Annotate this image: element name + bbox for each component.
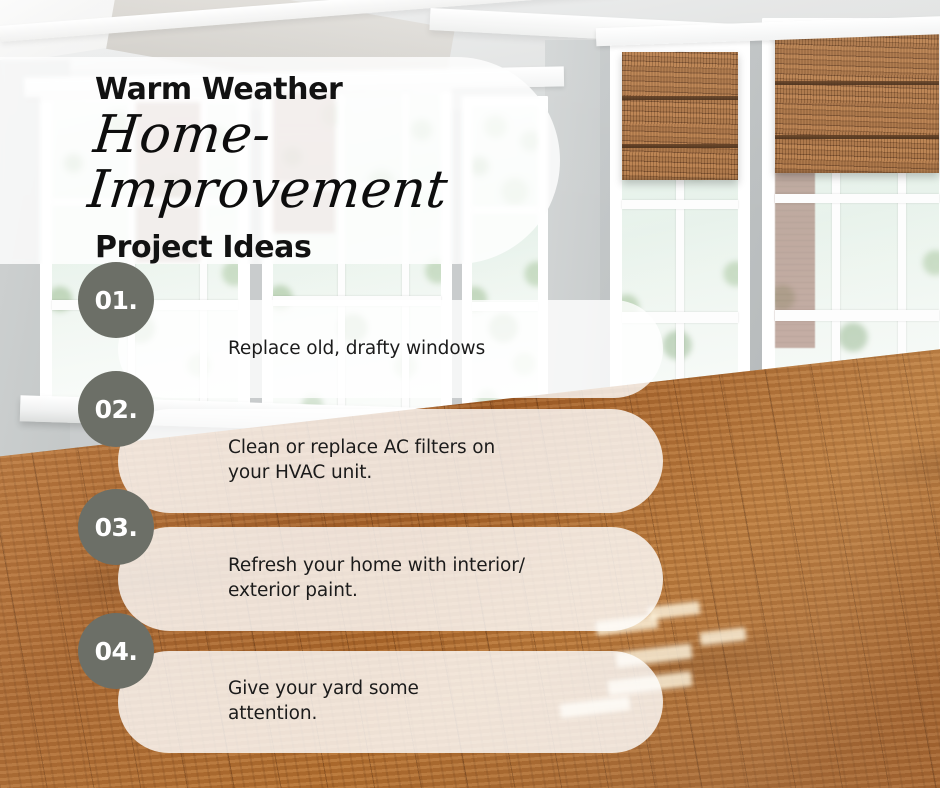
list-item-text: Replace old, drafty windows xyxy=(118,337,511,362)
list-item-number-badge: 04. xyxy=(78,613,154,689)
list-item-text: Give your yard some attention. xyxy=(118,677,445,727)
list-item-number-badge: 02. xyxy=(78,371,154,447)
list-item-pill: Give your yard some attention. xyxy=(118,651,663,753)
list-item-pill: Clean or replace AC filters on your HVAC… xyxy=(118,409,663,513)
list-item-pill: Refresh your home with interior/ exterio… xyxy=(118,527,663,631)
list-item-text: Clean or replace AC filters on your HVAC… xyxy=(118,436,521,486)
list-item-pill: Replace old, drafty windows xyxy=(118,300,663,398)
list-item-text: Refresh your home with interior/ exterio… xyxy=(118,554,551,604)
list-item-number-badge: 01. xyxy=(78,262,154,338)
list-item-number-badge: 03. xyxy=(78,489,154,565)
poster: Warm Weather Home-Improvement Project Id… xyxy=(0,0,940,788)
project-idea-list: Replace old, drafty windows 01. Clean or… xyxy=(0,0,940,788)
